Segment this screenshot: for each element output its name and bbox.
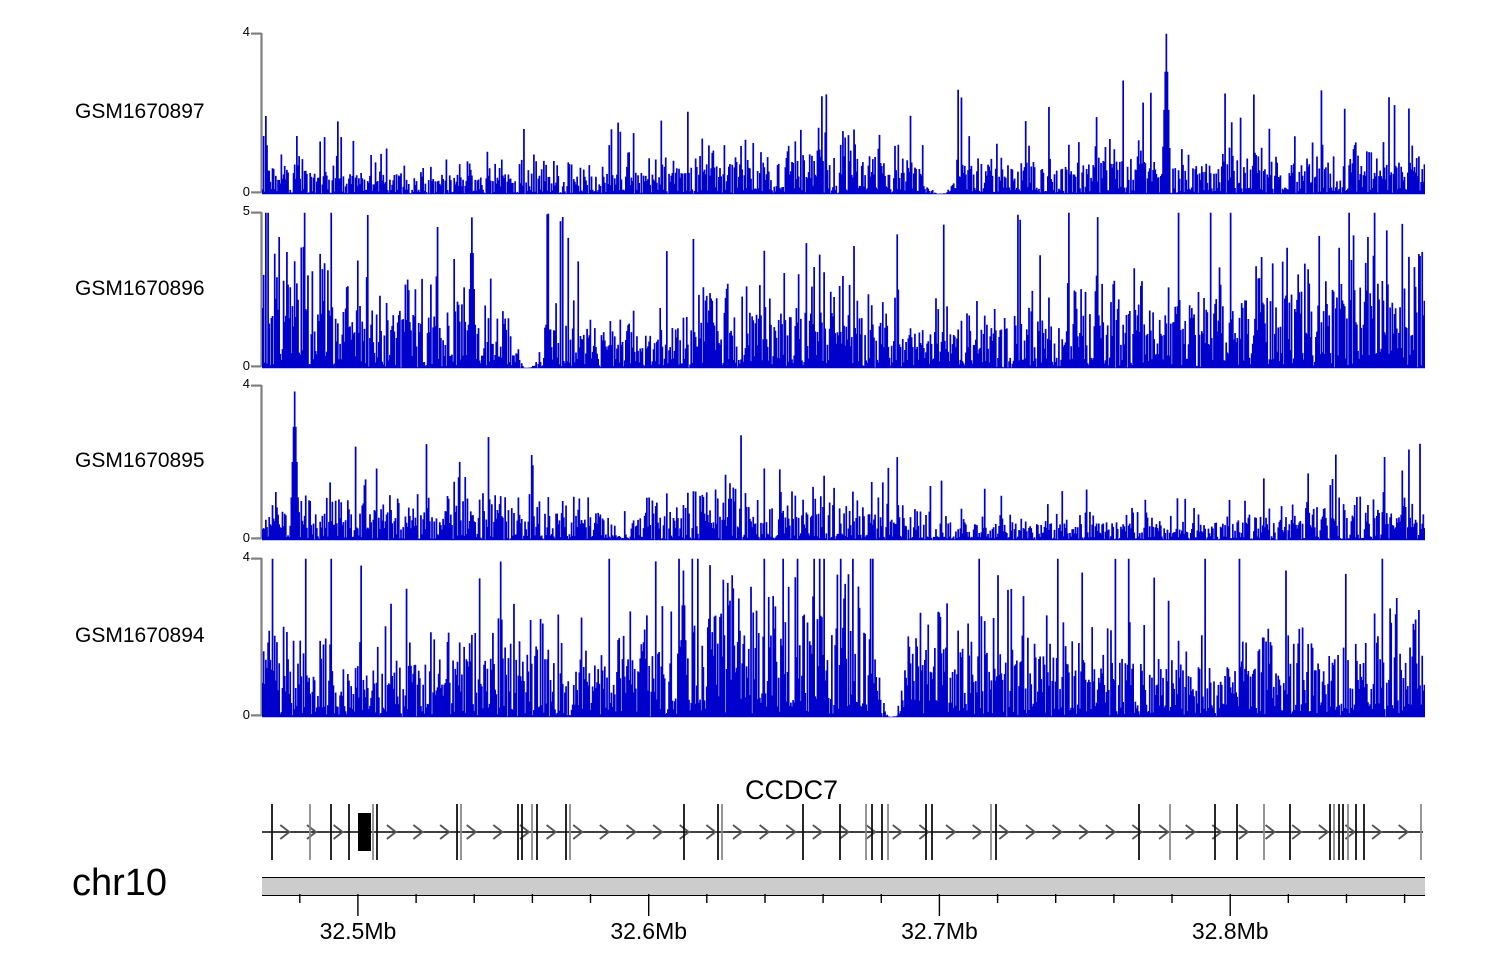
y-axis-max-label: 4 xyxy=(228,549,250,564)
track-label-gsm1670894: GSM1670894 xyxy=(75,624,205,648)
ruler-tick-label: 32.7Mb xyxy=(901,918,978,945)
gene-model-graphic[interactable] xyxy=(0,790,1500,880)
ruler-tick-label: 32.6Mb xyxy=(610,918,687,945)
track-label-gsm1670895: GSM1670895 xyxy=(75,449,205,473)
ruler-tick-marks xyxy=(0,894,1500,924)
track-label-gsm1670896: GSM1670896 xyxy=(75,277,205,301)
y-axis-max-label: 4 xyxy=(228,376,250,391)
track-label-gsm1670897: GSM1670897 xyxy=(75,100,205,124)
signal-plot-gsm1670896[interactable] xyxy=(262,212,1425,369)
y-axis-max-label: 5 xyxy=(228,203,250,218)
y-axis-min-label: 0 xyxy=(228,530,250,545)
y-axis-min-label: 0 xyxy=(228,184,250,199)
ruler-tick-label: 32.8Mb xyxy=(1192,918,1269,945)
signal-plot-gsm1670897[interactable] xyxy=(262,33,1425,195)
genome-browser-view: GSM167089740GSM167089650GSM167089540GSM1… xyxy=(0,0,1500,980)
y-axis-min-label: 0 xyxy=(228,358,250,373)
signal-plot-gsm1670895[interactable] xyxy=(262,385,1425,541)
signal-plot-gsm1670894[interactable] xyxy=(262,558,1425,718)
y-axis-min-label: 0 xyxy=(228,707,250,722)
ruler-tick-label: 32.5Mb xyxy=(320,918,397,945)
y-axis-max-label: 4 xyxy=(228,24,250,39)
